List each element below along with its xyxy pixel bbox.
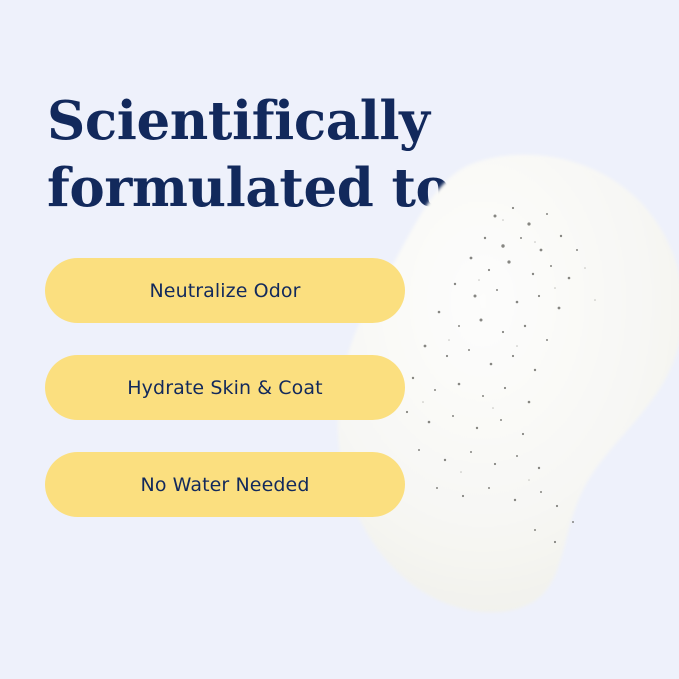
benefit-label: Neutralize Odor	[149, 280, 300, 302]
benefit-label: Hydrate Skin & Coat	[127, 377, 322, 399]
headline-line-1: Scientifically	[47, 90, 430, 152]
benefit-pill-no-water-needed[interactable]: No Water Needed	[45, 452, 405, 517]
benefits-list: Neutralize Odor Hydrate Skin & Coat No W…	[45, 258, 407, 549]
benefit-label: No Water Needed	[141, 474, 310, 496]
product-benefits-graphic: Scientifically formulated to:	[0, 0, 679, 679]
benefit-pill-neutralize-odor[interactable]: Neutralize Odor	[45, 258, 405, 323]
benefit-pill-hydrate-skin-coat[interactable]: Hydrate Skin & Coat	[45, 355, 405, 420]
